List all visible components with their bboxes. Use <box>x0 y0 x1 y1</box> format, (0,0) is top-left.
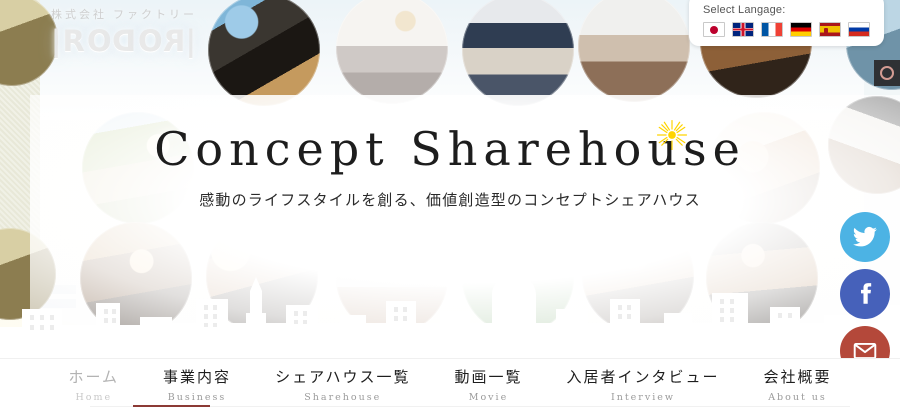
flag-france-icon[interactable] <box>761 22 783 37</box>
language-selector[interactable]: Select Langage: <box>689 0 884 46</box>
nav-item-sharehouse-en: Sharehouse <box>275 392 410 403</box>
nav-item-movie[interactable]: 動画一覧 Movie <box>432 367 544 403</box>
nav-item-movie-ja: 動画一覧 <box>454 367 522 389</box>
nav-item-business-en: Business <box>163 392 231 403</box>
nav-item-interview-en: Interview <box>566 392 719 403</box>
hero-subtitle: 感動のライフスタイルを創る、価値創造型のコンセプトシェアハウス <box>0 189 900 210</box>
nav-item-interview-ja: 入居者インタビュー <box>566 367 719 389</box>
twitter-button[interactable] <box>840 212 890 262</box>
facebook-icon <box>852 281 878 307</box>
edge-circle-badge[interactable] <box>874 60 900 86</box>
nav-item-sharehouse[interactable]: シェアハウス一覧 Sharehouse <box>253 367 432 403</box>
main-navigation: ホーム Home 事業内容 Business シェアハウス一覧 Sharehou… <box>0 358 900 420</box>
nav-item-business-ja: 事業内容 <box>163 367 231 389</box>
flag-germany-icon[interactable] <box>790 22 812 37</box>
hero-section: Concept Sharehouse 感動のライフスタイルを創る、価値創造型のコ… <box>0 125 900 210</box>
hero-title: Concept Sharehouse <box>0 125 900 173</box>
site-logo[interactable]: 株式会社 ファクトリー |RODOR| <box>44 6 204 58</box>
nav-item-about[interactable]: 会社概要 About us <box>742 367 854 403</box>
flag-japan-icon[interactable] <box>703 22 725 37</box>
flag-uk-icon[interactable] <box>732 22 754 37</box>
nav-item-movie-en: Movie <box>454 392 522 403</box>
nav-item-home-ja: ホーム <box>68 367 119 389</box>
flag-russia-icon[interactable] <box>848 22 870 37</box>
flag-spain-icon[interactable] <box>819 22 841 37</box>
language-flag-list <box>703 22 870 37</box>
nav-list: ホーム Home 事業内容 Business シェアハウス一覧 Sharehou… <box>0 359 900 403</box>
nav-item-home[interactable]: ホーム Home <box>46 367 141 403</box>
logo-wordmark: |RODOR| <box>44 24 204 58</box>
nav-item-business[interactable]: 事業内容 Business <box>141 367 253 403</box>
sunburst-icon <box>655 118 689 152</box>
page-root: Concept Sharehouse 感動のライフスタイルを創る、価値創造型のコ… <box>0 0 900 420</box>
nav-item-sharehouse-ja: シェアハウス一覧 <box>275 367 410 389</box>
nav-item-about-ja: 会社概要 <box>764 367 832 389</box>
nav-item-interview[interactable]: 入居者インタビュー Interview <box>544 367 741 403</box>
nav-item-home-en: Home <box>68 392 119 403</box>
nav-item-about-en: About us <box>764 392 832 403</box>
logo-kicker: 株式会社 ファクトリー <box>44 6 204 22</box>
nav-active-underline <box>133 405 210 407</box>
facebook-button[interactable] <box>840 269 890 319</box>
twitter-icon <box>852 224 878 250</box>
language-selector-label: Select Langage: <box>703 4 870 16</box>
